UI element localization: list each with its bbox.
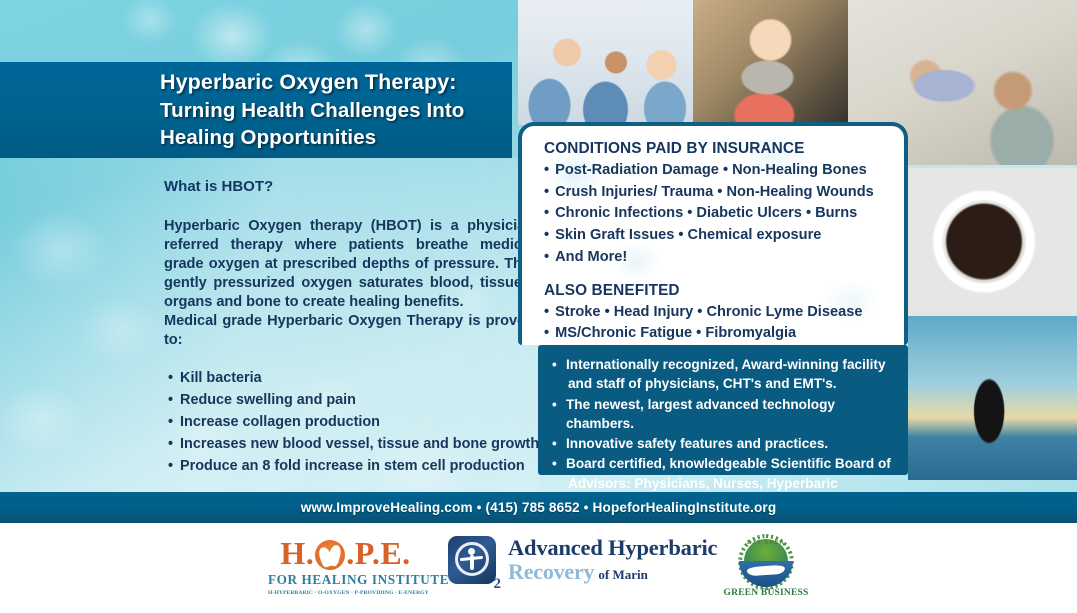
list-item: Produce an 8 fold increase in stem cell … (168, 456, 548, 478)
title-band: Hyperbaric Oxygen Therapy: Turning Healt… (0, 62, 512, 158)
ahr-recovery-word: Recovery (508, 559, 594, 584)
hope-subtitle: FOR HEALING INSTITUTE (268, 572, 423, 588)
hope-wordmark: H..P.E. (268, 537, 423, 571)
title-line-3: Healing Opportunities (160, 124, 464, 151)
list-item: MS/Chronic Fatigue • Fibromyalgia (544, 323, 904, 345)
medical-staff-photo: medical-staff-photo (518, 0, 693, 125)
green-top-word: BAY AREA (735, 540, 797, 546)
ahr-wordmark: Advanced Hyperbaric Recoveryof Marin (508, 537, 717, 583)
child-in-wheelchair-photo: child-in-wheelchair-photo (693, 0, 848, 125)
woman-at-beach-photo: woman-at-beach-photo (908, 316, 1077, 480)
hbot-benefits-list: Kill bacteria Reduce swelling and pain I… (168, 368, 548, 477)
insurance-conditions-list: Post-Radiation Damage • Non-Healing Bone… (544, 160, 904, 269)
list-item: Post-Radiation Damage • Non-Healing Bone… (544, 160, 904, 182)
ahr-line-2: Recoveryof Marin (508, 561, 717, 583)
list-item: And More! (544, 247, 904, 269)
hbot-description-paragraph: Hyperbaric Oxygen therapy (HBOT) is a ph… (164, 217, 534, 312)
also-benefited-list: Stroke • Head Injury • Chronic Lyme Dise… (544, 302, 904, 345)
title-line-1: Hyperbaric Oxygen Therapy: (160, 68, 464, 97)
credential-main: The newest, largest advanced technology … (566, 397, 835, 431)
hope-for-healing-institute-logo[interactable]: H..P.E. FOR HEALING INSTITUTE H-HYPERBAR… (268, 537, 423, 596)
bay-area-green-business-logo[interactable]: BAY AREA GREEN BUSINESS (723, 539, 809, 598)
credential-main: Innovative safety features and practices… (566, 436, 828, 451)
chamber-window-patient-photo: chamber-window-patient-photo (908, 168, 1077, 315)
o2-subscript: 2 (494, 576, 502, 593)
credentials-list: Internationally recognized, Award-winnin… (552, 355, 898, 512)
page-title: Hyperbaric Oxygen Therapy: Turning Healt… (0, 68, 464, 152)
list-item: Innovative safety features and practices… (552, 434, 898, 453)
contact-bar: www.ImproveHealing.com • (415) 785 8652 … (0, 492, 1077, 523)
praying-hands-icon (315, 540, 345, 570)
list-item: Reduce swelling and pain (168, 390, 548, 412)
hbot-proven-paragraph: Medical grade Hyperbaric Oxygen Therapy … (164, 312, 534, 350)
list-item: Chronic Infections • Diabetic Ulcers • B… (544, 203, 904, 225)
hope-letters-left: H. (280, 535, 314, 571)
list-item: Stroke • Head Injury • Chronic Lyme Dise… (544, 302, 904, 324)
o2-person-icon: 2 (448, 536, 496, 584)
advanced-hyperbaric-recovery-logo[interactable]: 2 Advanced Hyperbaric Recoveryof Marin (448, 536, 717, 584)
credentials-panel: Internationally recognized, Award-winnin… (538, 345, 908, 475)
list-item: Increase collagen production (168, 412, 548, 434)
what-is-hbot-section: What is HBOT? Hyperbaric Oxygen therapy … (164, 178, 534, 350)
credential-cont: and staff of physicians, CHT's and EMT's… (566, 374, 898, 393)
credential-main: Board certified, knowledgeable Scientifi… (566, 456, 891, 471)
panel-spacer (544, 269, 904, 282)
list-item: Internationally recognized, Award-winnin… (552, 355, 898, 394)
footer-logos: H..P.E. FOR HEALING INSTITUTE H-HYPERBAR… (0, 523, 1077, 613)
credential-main: Internationally recognized, Award-winnin… (566, 357, 886, 372)
list-item: Kill bacteria (168, 368, 548, 390)
insurance-heading: CONDITIONS PAID BY INSURANCE (544, 140, 904, 158)
list-item: Skin Graft Issues • Chemical exposure (544, 225, 904, 247)
contact-line[interactable]: www.ImproveHealing.com • (415) 785 8652 … (301, 500, 777, 515)
ahr-line-1: Advanced Hyperbaric (508, 537, 717, 560)
section-heading-what-is-hbot: What is HBOT? (164, 178, 534, 195)
list-item: Crush Injuries/ Trauma • Non-Healing Wou… (544, 182, 904, 204)
sun-wave-icon: BAY AREA (735, 539, 797, 587)
title-line-2: Turning Health Challenges Into (160, 97, 464, 124)
hope-tagline: H-HYPERBARIC · O-OXYGEN · P-PROVIDING · … (268, 590, 423, 596)
list-item: The newest, largest advanced technology … (552, 395, 898, 434)
also-benefited-heading: ALSO BENEFITED (544, 282, 904, 300)
list-item: Increases new blood vessel, tissue and b… (168, 434, 548, 456)
flyer-canvas: medical-staff-photo child-in-wheelchair-… (0, 0, 1077, 613)
conditions-info-panel: CONDITIONS PAID BY INSURANCE Post-Radiat… (518, 122, 908, 345)
ahr-of-marin: of Marin (598, 567, 647, 582)
hope-letters-right: .P.E. (346, 535, 410, 571)
